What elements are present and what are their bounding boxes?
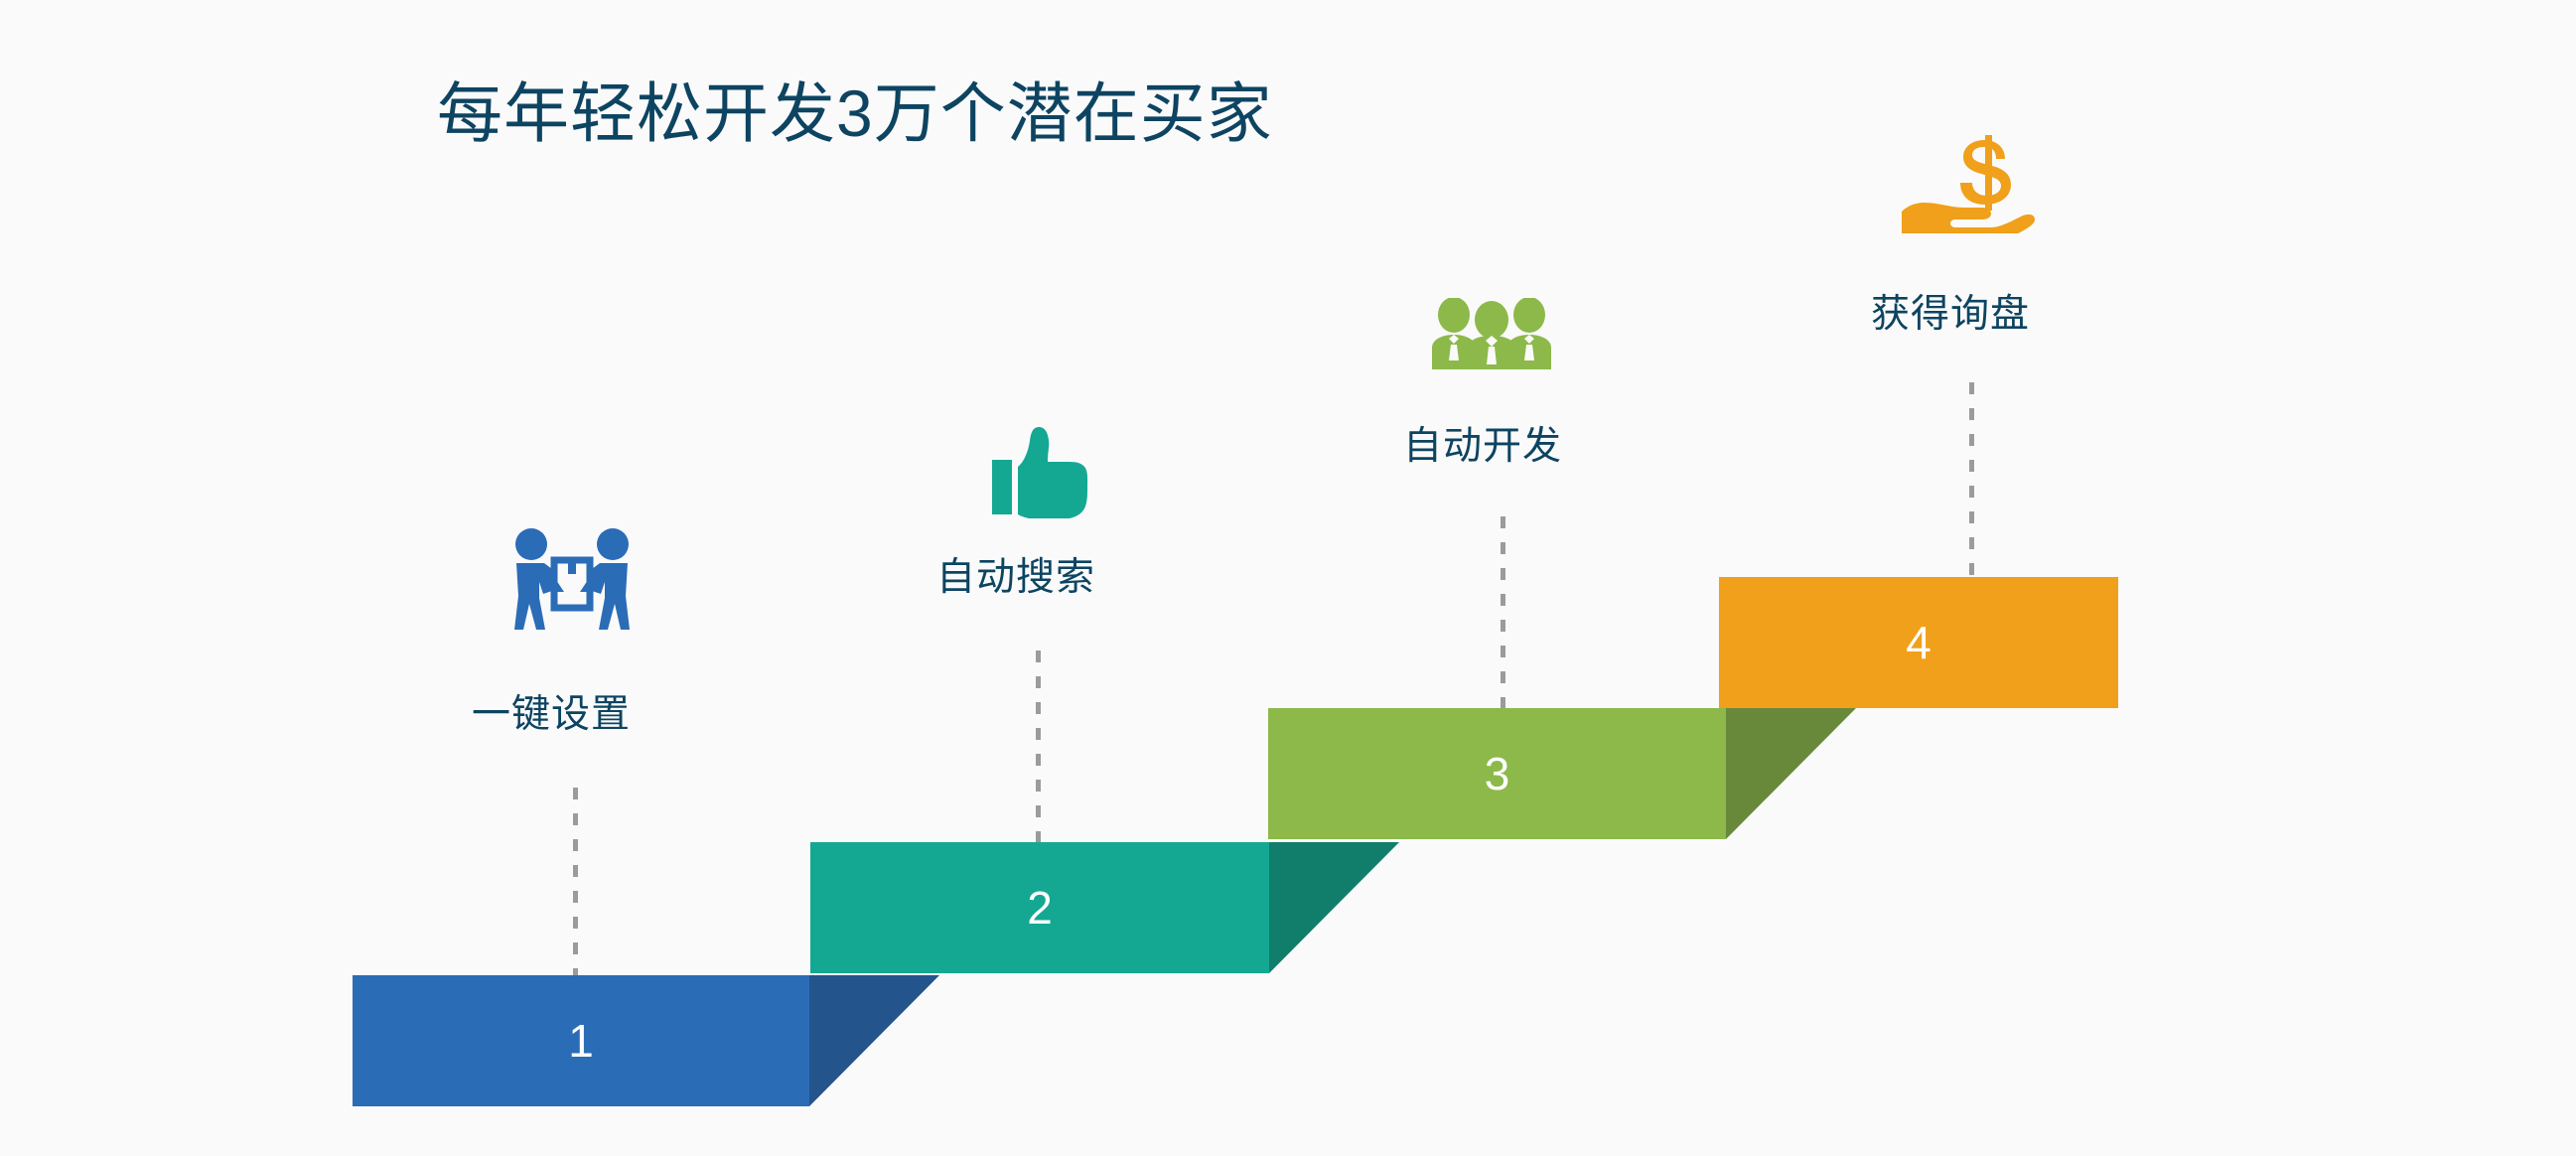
step-1-connector xyxy=(573,788,578,975)
step-1-number: 1 xyxy=(353,1018,809,1064)
step-1-block[interactable]: 1 xyxy=(353,975,809,1106)
people-group-icon xyxy=(1427,298,1556,369)
step-4-tread: 4 xyxy=(1719,577,2118,708)
step-4-connector xyxy=(1969,382,1974,577)
step-2-number: 2 xyxy=(810,885,1269,931)
step-4-number: 4 xyxy=(1719,620,2118,665)
step-3-number: 3 xyxy=(1268,751,1726,796)
step-4-block[interactable]: 4 xyxy=(1719,577,2118,708)
step-3-block[interactable]: 3 xyxy=(1268,708,1726,839)
step-1-ramp xyxy=(809,975,939,1106)
step-4-caption: 获得询盘 xyxy=(1871,295,2030,334)
step-2-tread: 2 xyxy=(810,842,1269,973)
people-carrying-box-icon xyxy=(497,524,647,636)
step-2-ramp xyxy=(1269,842,1399,973)
step-3-caption: 自动开发 xyxy=(1403,427,1562,466)
step-3-tread: 3 xyxy=(1268,708,1726,839)
step-3-ramp xyxy=(1726,708,1856,839)
step-2-caption: 自动搜索 xyxy=(936,558,1095,597)
hand-holding-dollar-icon xyxy=(1902,129,2041,233)
thumbs-up-icon xyxy=(988,427,1109,518)
step-1-tread: 1 xyxy=(353,975,809,1106)
infographic-canvas: 每年轻松开发3万个潜在买家 1 一键设置 2 自动搜索 xyxy=(0,0,2576,1156)
page-title: 每年轻松开发3万个潜在买家 xyxy=(437,77,1273,150)
step-3-connector xyxy=(1501,516,1505,708)
step-2-block[interactable]: 2 xyxy=(810,842,1269,973)
step-2-connector xyxy=(1036,650,1041,842)
step-1-caption: 一键设置 xyxy=(472,695,631,734)
